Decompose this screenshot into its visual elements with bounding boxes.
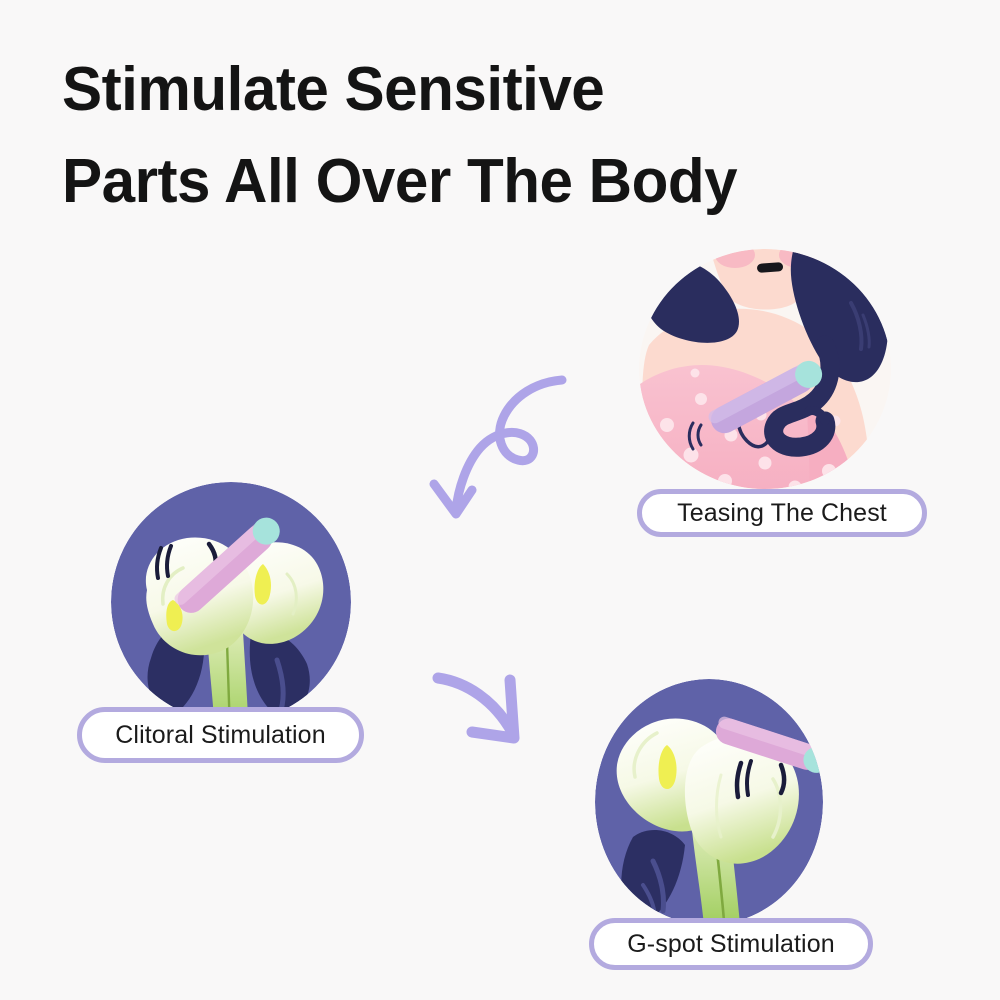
- feature-label-chest[interactable]: Teasing The Chest: [637, 489, 927, 537]
- curved-arrow-down-right-icon: [432, 660, 562, 754]
- poster-canvas: Stimulate Sensitive Parts All Over The B…: [0, 0, 1000, 1000]
- calla-lily-pair-with-wand-illustration: [595, 679, 823, 925]
- curly-loop-arrow-down-left-icon: [424, 368, 564, 520]
- calla-lily-with-wand-illustration: [111, 482, 351, 722]
- page-title-line-1: Stimulate Sensitive: [62, 44, 916, 136]
- feature-label-gspot[interactable]: G-spot Stimulation: [589, 918, 873, 970]
- page-title: Stimulate Sensitive Parts All Over The B…: [62, 44, 942, 228]
- feature-label-clitoral[interactable]: Clitoral Stimulation: [77, 707, 364, 763]
- feature-card-gspot[interactable]: [595, 679, 823, 925]
- page-title-line-2: Parts All Over The Body: [62, 136, 916, 228]
- feature-card-chest[interactable]: [639, 249, 891, 489]
- woman-chest-with-wand-illustration: [639, 249, 891, 489]
- feature-card-clitoral[interactable]: [111, 482, 351, 722]
